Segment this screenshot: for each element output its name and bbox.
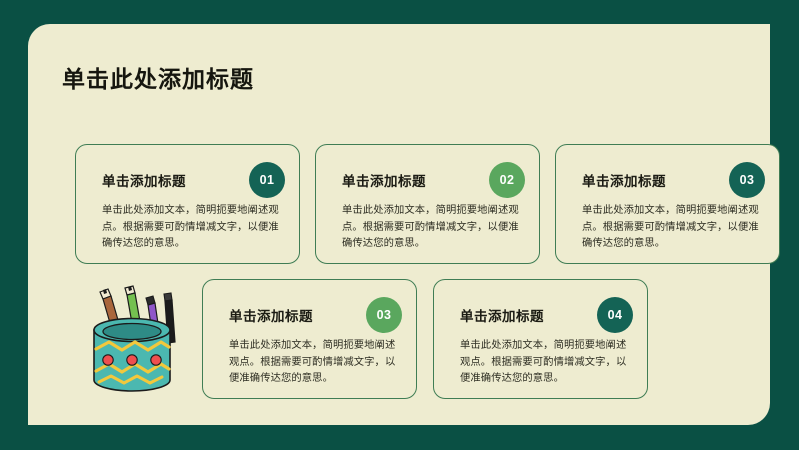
card-title: 单击添加标题 [342,170,426,190]
info-card-2[interactable]: 单击添加标题 02 单击此处添加文本，简明扼要地阐述观点。根据需要可酌情增减文字… [315,144,540,264]
info-card-3[interactable]: 单击添加标题 03 单击此处添加文本，简明扼要地阐述观点。根据需要可酌情增减文字… [555,144,780,264]
pencil-cup-illustration [80,272,195,400]
card-body-text: 单击此处添加文本，简明扼要地阐述观点。根据需要可酌情增减文字，以便准确传达您的意… [229,338,398,388]
page-title: 单击此处添加标题 [62,60,254,94]
card-title: 单击添加标题 [229,305,313,325]
card-body-text: 单击此处添加文本，简明扼要地阐述观点。根据需要可酌情增减文字，以便准确传达您的意… [460,338,629,388]
card-body-text: 单击此处添加文本，简明扼要地阐述观点。根据需要可酌情增减文字，以便准确传达您的意… [582,203,761,253]
info-card-4[interactable]: 单击添加标题 03 单击此处添加文本，简明扼要地阐述观点。根据需要可酌情增减文字… [202,279,417,399]
slide-panel: 单击此处添加标题 单击添加标题 01 单击此处添加文本，简明扼要地阐述观点。根据… [28,24,770,425]
card-body-text: 单击此处添加文本，简明扼要地阐述观点。根据需要可酌情增减文字，以便准确传达您的意… [102,203,281,253]
cup-dots [103,355,161,365]
card-title: 单击添加标题 [460,305,544,325]
card-number-badge: 03 [366,297,402,333]
card-number-badge: 02 [489,162,525,198]
info-card-1[interactable]: 单击添加标题 01 单击此处添加文本，简明扼要地阐述观点。根据需要可酌情增减文字… [75,144,300,264]
card-title: 单击添加标题 [102,170,186,190]
card-number-badge: 01 [249,162,285,198]
card-number-badge: 04 [597,297,633,333]
card-number-badge: 03 [729,162,765,198]
card-body-text: 单击此处添加文本，简明扼要地阐述观点。根据需要可酌情增减文字，以便准确传达您的意… [342,203,521,253]
info-card-5[interactable]: 单击添加标题 04 单击此处添加文本，简明扼要地阐述观点。根据需要可酌情增减文字… [433,279,648,399]
card-title: 单击添加标题 [582,170,666,190]
